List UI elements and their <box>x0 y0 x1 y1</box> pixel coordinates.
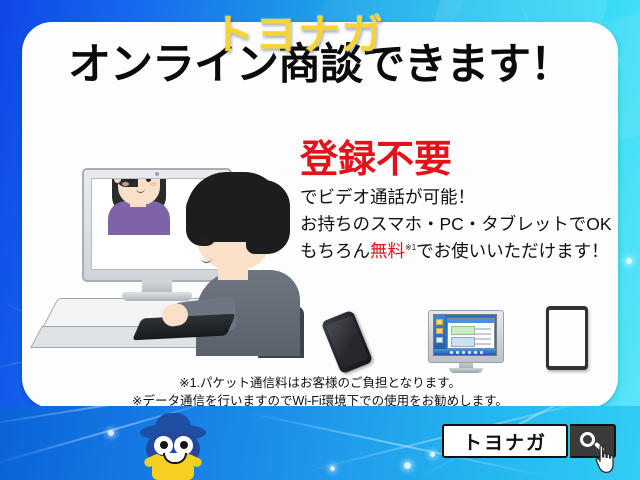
pc-window-titlebar <box>448 319 494 323</box>
pc-desktop-icon <box>436 328 443 334</box>
pc-taskbar-item <box>462 351 465 354</box>
woman-blush-left <box>122 182 129 186</box>
pc-taskbar-item <box>468 351 471 354</box>
mascot-pupil-left <box>160 441 168 449</box>
mascot-pupil-right <box>180 441 188 449</box>
woman-blush-right <box>150 182 157 186</box>
promo-copy: 登録不要 でビデオ通話が可能！ お持ちのスマホ・PC・タブレットでOK もちろん… <box>300 140 640 265</box>
pc-window-line <box>475 328 491 330</box>
pc-stand-base <box>449 368 483 373</box>
footer-node <box>330 466 335 471</box>
footnotes: ※1.パケット通信料はお客様のご負担となります。 ※データ通信を行いますのでWi… <box>22 374 618 410</box>
free-label: 無料 <box>370 241 405 261</box>
brand-logo-text: トヨナガ <box>212 14 384 56</box>
no-registration-heading: 登録不要 <box>300 140 640 178</box>
footer-node <box>404 462 411 469</box>
pc-window <box>447 318 495 349</box>
toyonaga-mascot-icon <box>136 412 210 478</box>
copy-line-3-pre: もちろん <box>300 241 370 261</box>
pc-taskbar-item <box>450 351 453 354</box>
tablet-illustration <box>546 306 588 370</box>
footer-node <box>108 430 114 436</box>
search-input[interactable]: トヨナガ <box>442 424 568 458</box>
copy-line-3-post: でお使いいただけます！ <box>416 241 609 261</box>
mascot-leg-left <box>156 470 167 480</box>
copy-line-3: もちろん無料※1でお使いいただけます！ <box>300 238 640 265</box>
footnote-marker: ※1 <box>405 243 416 252</box>
man-eye <box>202 238 208 246</box>
pc-window-panel-2 <box>451 337 475 347</box>
pc-taskbar <box>433 349 497 356</box>
tablet-screen <box>549 310 585 366</box>
copy-line-1: でビデオ通話が可能！ <box>300 184 640 211</box>
pc-window-panel <box>451 326 475 335</box>
smartphone-illustration <box>321 310 374 375</box>
poster-root: オンライン商談できます！ <box>0 0 640 480</box>
mascot-leg-right <box>178 470 189 480</box>
pc-taskbar-item <box>456 351 459 354</box>
pc-monitor-illustration <box>428 310 504 374</box>
pc-window-line <box>475 338 491 340</box>
search-input-value: トヨナガ <box>463 428 547 455</box>
footer-node <box>430 452 435 457</box>
pc-desktop-icon <box>436 319 443 325</box>
pc-window-line <box>475 343 491 345</box>
pc-taskbar-item <box>480 351 483 354</box>
hand-cursor-icon <box>592 444 618 474</box>
pc-window-line <box>475 333 491 335</box>
video-call-illustration <box>50 140 300 365</box>
man-hair-side <box>186 192 216 246</box>
webcam-icon <box>155 172 159 176</box>
copy-line-2: お持ちのスマホ・PC・タブレットでOK <box>300 211 640 238</box>
monitor-stand-base <box>122 292 192 301</box>
pc-taskbar-item <box>474 351 477 354</box>
smartphone-screen <box>325 315 368 368</box>
content-card: オンライン商談できます！ <box>22 22 618 408</box>
footnote-1: ※1.パケット通信料はお客様のご負担となります。 <box>22 374 618 392</box>
pc-desktop-icon <box>436 337 443 343</box>
